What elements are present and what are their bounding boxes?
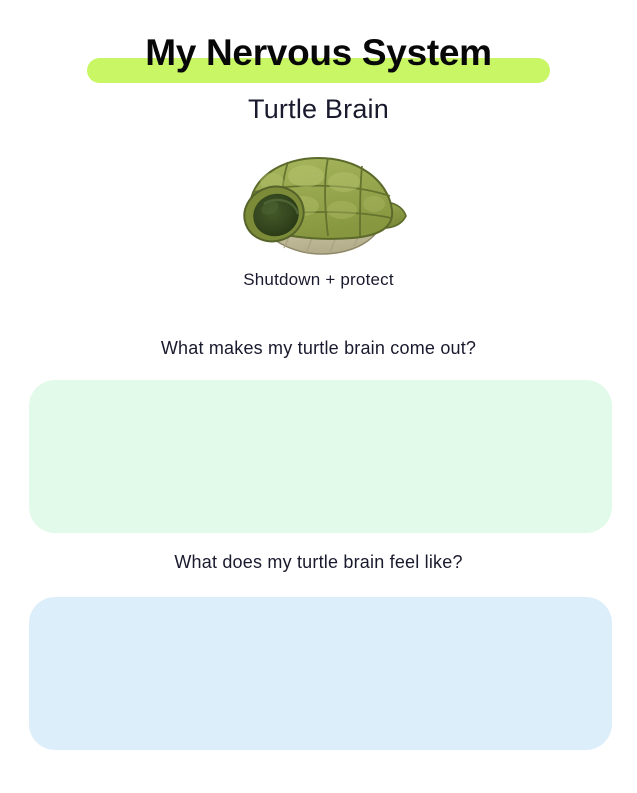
- page-title: My Nervous System: [0, 28, 637, 78]
- illustration-caption: Shutdown + protect: [0, 268, 637, 292]
- answer-box-feelings[interactable]: [29, 597, 612, 750]
- page-title-block: My Nervous System: [0, 28, 637, 90]
- worksheet-page: My Nervous System Turtle Brain: [0, 0, 637, 793]
- turtle-shell-retracted-icon: [232, 152, 408, 264]
- prompt-triggers: What makes my turtle brain come out?: [0, 335, 637, 361]
- page-subtitle: Turtle Brain: [0, 92, 637, 126]
- answer-box-triggers[interactable]: [29, 380, 612, 533]
- prompt-feelings: What does my turtle brain feel like?: [0, 549, 637, 575]
